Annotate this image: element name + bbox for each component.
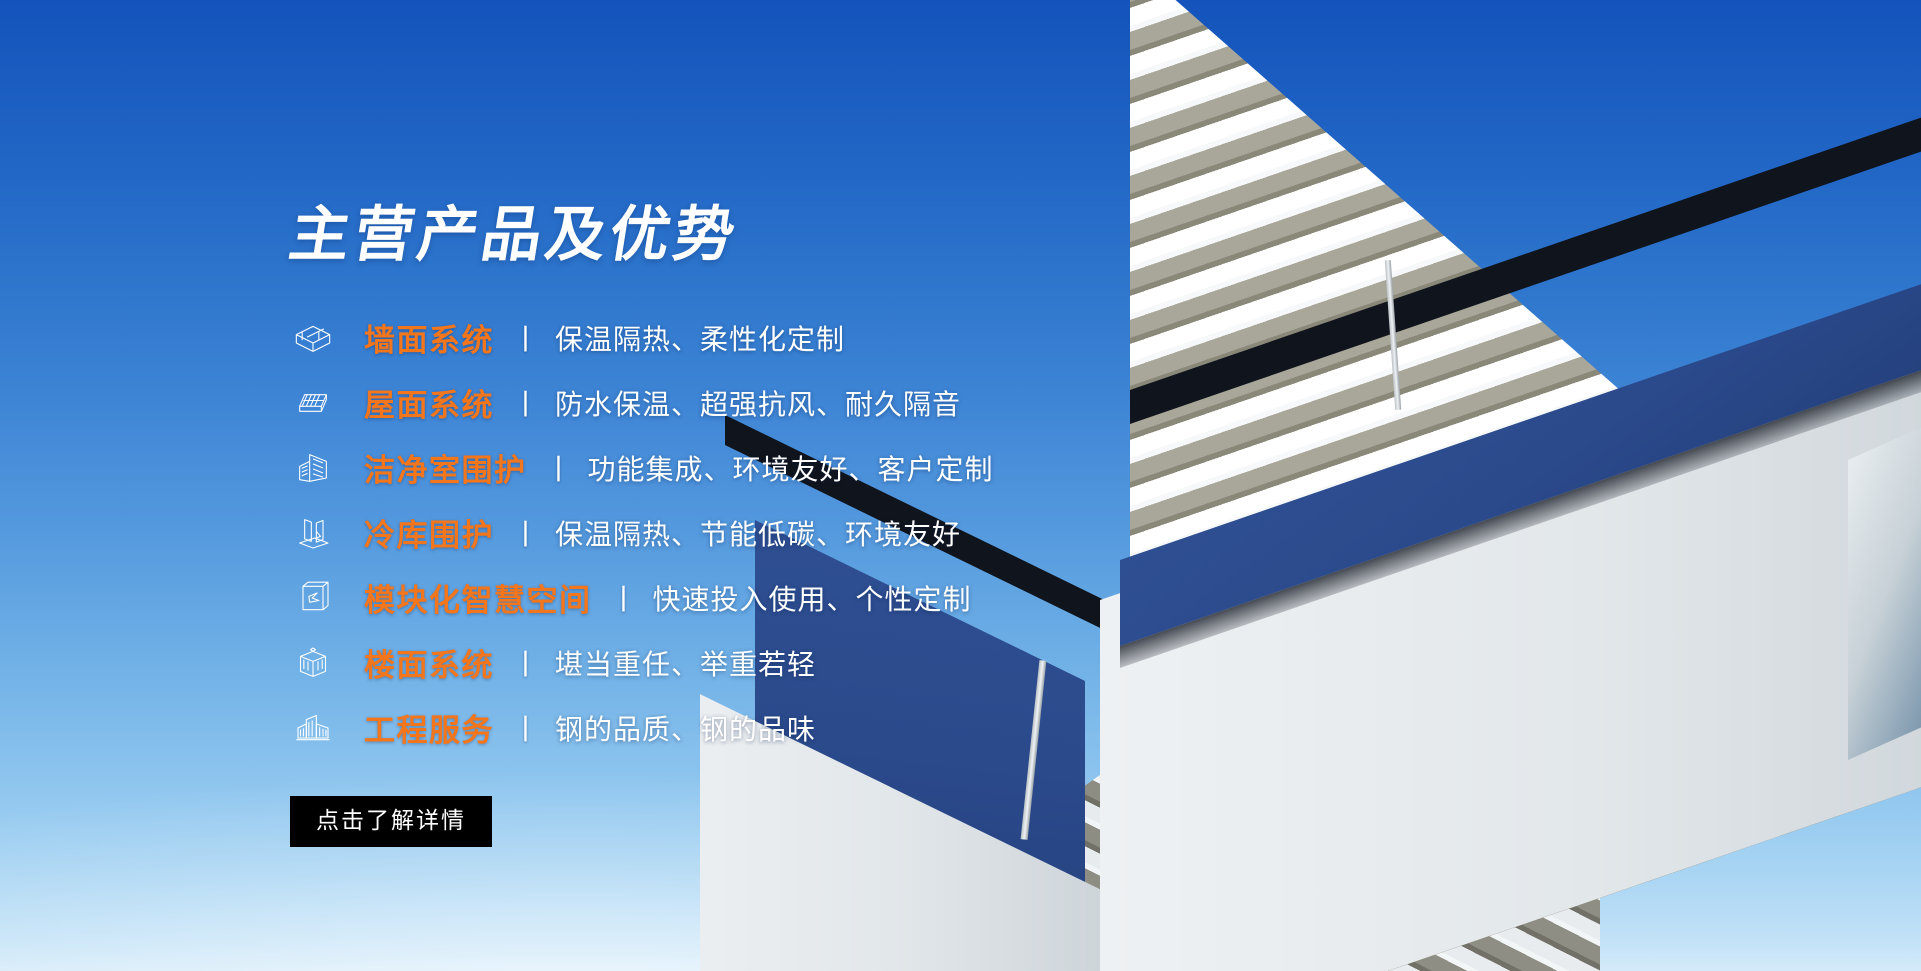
feature-label: 冷库围护 — [364, 510, 494, 555]
feature-description: 钢的品质、钢的品味 — [555, 708, 816, 748]
feature-label: 楼面系统 — [364, 640, 494, 685]
feature-row-cold-storage-enclosure[interactable]: 冷库围护 丨 保温隔热、节能低碳、环境友好 — [290, 500, 1100, 565]
feature-separator: 丨 — [515, 513, 535, 552]
feature-separator: 丨 — [613, 578, 633, 617]
feature-row-cleanroom-enclosure[interactable]: 洁净室围护 丨 功能集成、环境友好、客户定制 — [290, 435, 1100, 500]
feature-row-floor-system[interactable]: 楼面系统 丨 堪当重任、举重若轻 — [290, 630, 1100, 695]
page-title: 主营产品及优势 — [285, 205, 1105, 265]
floor-system-icon — [290, 640, 336, 686]
feature-row-modular-smart-space[interactable]: 模块化智慧空间 丨 快速投入使用、个性定制 — [290, 565, 1100, 630]
feature-separator: 丨 — [515, 383, 535, 422]
hero-banner: 主营产品及优势 墙面系统 丨 保温隔热、柔性化定制 — [0, 0, 1921, 971]
feature-label: 模块化智慧空间 — [364, 575, 592, 620]
cold-storage-enclosure-icon — [290, 510, 336, 556]
feature-label: 洁净室围护 — [364, 445, 527, 490]
wall-system-icon — [290, 315, 336, 361]
roof-system-icon — [290, 380, 336, 426]
feature-description: 保温隔热、节能低碳、环境友好 — [555, 513, 961, 553]
feature-separator: 丨 — [548, 448, 568, 487]
feature-label: 屋面系统 — [364, 380, 494, 425]
feature-separator: 丨 — [515, 708, 535, 747]
adjacent-building-sliver — [1848, 402, 1921, 760]
feature-row-wall-system[interactable]: 墙面系统 丨 保温隔热、柔性化定制 — [290, 305, 1100, 370]
engineering-service-icon — [290, 705, 336, 751]
feature-description: 堪当重任、举重若轻 — [555, 643, 816, 683]
banner-content: 主营产品及优势 墙面系统 丨 保温隔热、柔性化定制 — [0, 0, 1100, 971]
feature-separator: 丨 — [515, 643, 535, 682]
feature-label: 墙面系统 — [364, 315, 494, 360]
feature-list: 墙面系统 丨 保温隔热、柔性化定制 屋面系统 丨 防水保温、超强抗 — [290, 305, 1100, 760]
feature-description: 防水保温、超强抗风、耐久隔音 — [555, 383, 961, 423]
feature-label: 工程服务 — [364, 705, 494, 750]
feature-row-roof-system[interactable]: 屋面系统 丨 防水保温、超强抗风、耐久隔音 — [290, 370, 1100, 435]
feature-separator: 丨 — [515, 318, 535, 357]
feature-description: 快速投入使用、个性定制 — [653, 578, 972, 618]
modular-smart-space-icon — [290, 575, 336, 621]
feature-row-engineering-service[interactable]: 工程服务 丨 钢的品质、钢的品味 — [290, 695, 1100, 760]
learn-more-button[interactable]: 点击了解详情 — [290, 796, 492, 847]
feature-description: 保温隔热、柔性化定制 — [555, 318, 845, 358]
feature-description: 功能集成、环境友好、客户定制 — [588, 448, 994, 488]
cleanroom-enclosure-icon — [290, 445, 336, 491]
